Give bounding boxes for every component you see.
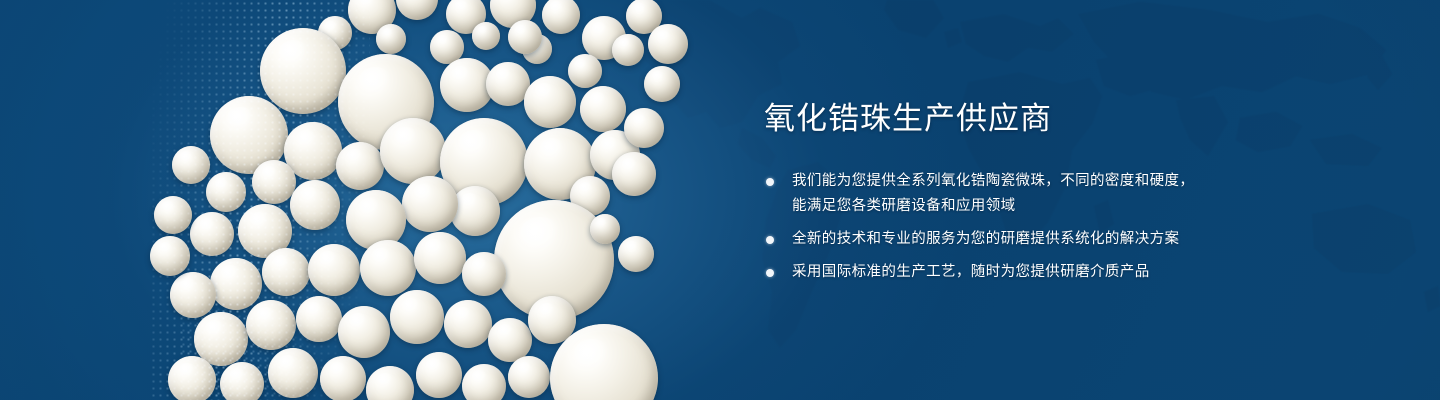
list-item: 我们能为您提供全系列氧化锆陶瓷微珠，不同的密度和硬度， 能满足您各类研磨设备和应… <box>764 169 1284 219</box>
list-item: 采用国际标准的生产工艺，随时为您提供研磨介质产品 <box>764 260 1284 285</box>
list-item-line: 我们能为您提供全系列氧化锆陶瓷微珠，不同的密度和硬度， <box>792 169 1284 194</box>
banner-headline: 氧化锆珠生产供应商 <box>764 100 1284 139</box>
bullet-dot-icon <box>766 236 774 244</box>
list-item-line: 采用国际标准的生产工艺，随时为您提供研磨介质产品 <box>792 260 1284 285</box>
list-item-line: 能满足您各类研磨设备和应用领域 <box>792 194 1284 219</box>
feature-list: 我们能为您提供全系列氧化锆陶瓷微珠，不同的密度和硬度， 能满足您各类研磨设备和应… <box>764 169 1284 285</box>
banner-copy: 氧化锆珠生产供应商 我们能为您提供全系列氧化锆陶瓷微珠，不同的密度和硬度， 能满… <box>764 100 1284 293</box>
list-item-line: 全新的技术和专业的服务为您的研磨提供系统化的解决方案 <box>792 227 1284 252</box>
bullet-dot-icon <box>766 178 774 186</box>
bullet-dot-icon <box>766 269 774 277</box>
promo-banner: 氧化锆珠生产供应商 我们能为您提供全系列氧化锆陶瓷微珠，不同的密度和硬度， 能满… <box>0 0 1440 400</box>
list-item: 全新的技术和专业的服务为您的研磨提供系统化的解决方案 <box>764 227 1284 252</box>
